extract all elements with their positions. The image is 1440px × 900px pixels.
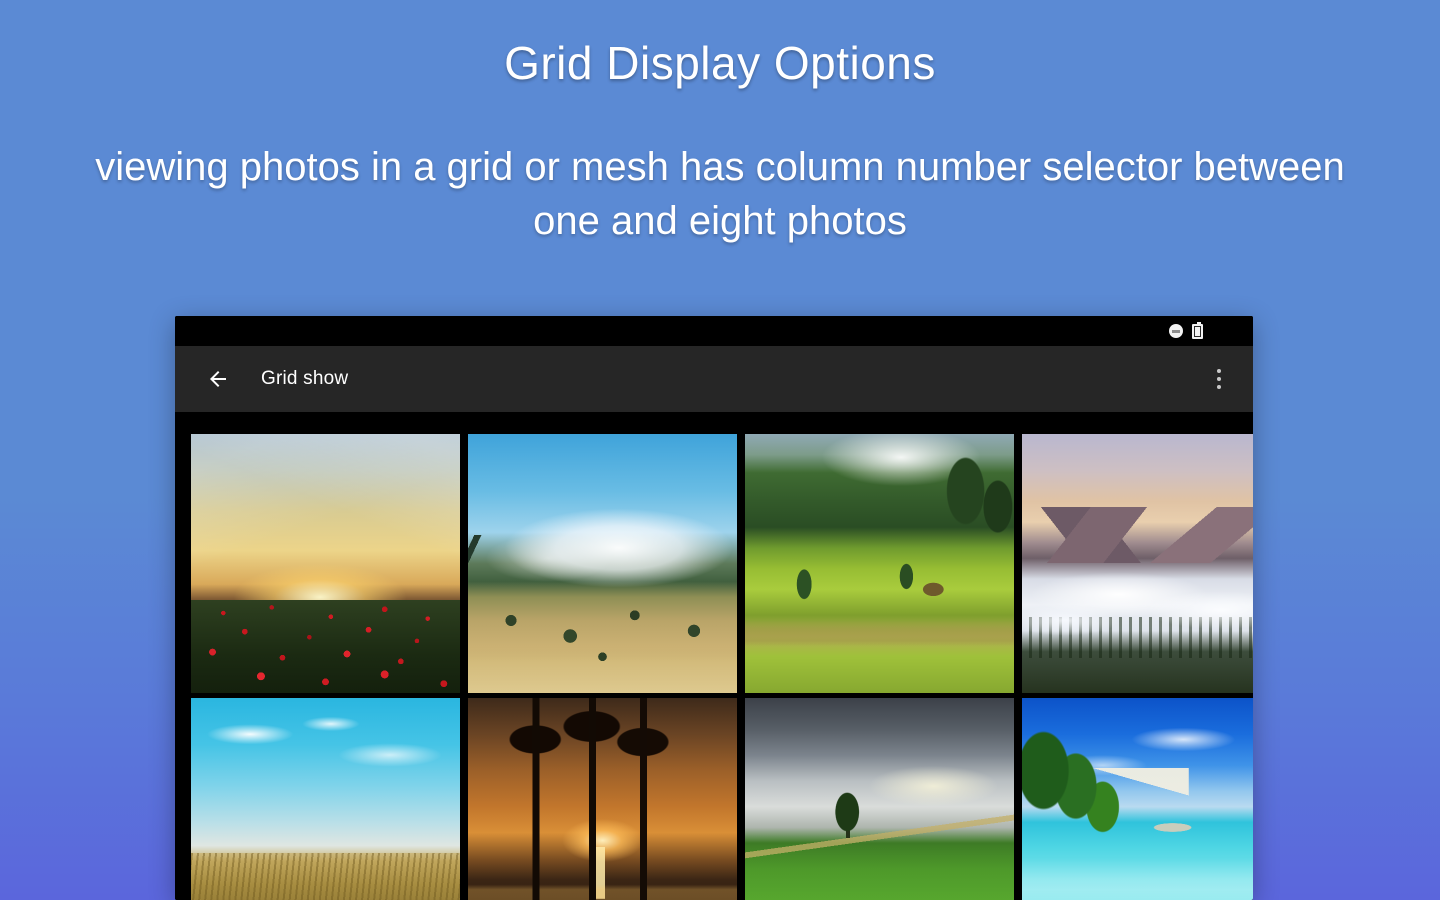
app-bar-title: Grid show [261, 368, 348, 390]
more-vertical-icon-dot [1217, 385, 1222, 390]
promo-subtitle: viewing photos in a grid or mesh has col… [70, 140, 1370, 248]
photo-palm-trees-sunset[interactable] [468, 698, 737, 900]
arrow-left-icon [206, 367, 230, 391]
photo-mountain-peaks-clouds-art [1022, 434, 1253, 693]
status-bar [175, 316, 1253, 346]
photo-tropical-beach[interactable] [1022, 698, 1253, 900]
promo-screenshot: Grid Display Options viewing photos in a… [0, 0, 1440, 900]
photo-green-valley-art [745, 434, 1014, 693]
photo-wheat-field-blue-sky-art [191, 698, 460, 900]
overflow-menu-button[interactable] [1199, 356, 1239, 402]
battery-icon [1192, 324, 1203, 339]
photo-stormy-green-field[interactable] [745, 698, 1014, 900]
device-frame: Grid show [175, 316, 1253, 900]
photo-stormy-green-field-art [745, 698, 1014, 900]
photo-grid [191, 434, 1253, 900]
photo-poppy-field-sunset-art [191, 434, 460, 693]
photo-tropical-beach-art [1022, 698, 1253, 900]
promo-title: Grid Display Options [0, 36, 1440, 90]
sync-icon [1169, 324, 1183, 338]
app-bar: Grid show [175, 346, 1253, 412]
photo-mountain-peaks-clouds[interactable] [1022, 434, 1253, 693]
photo-poppy-field-sunset[interactable] [191, 434, 460, 693]
photo-green-valley[interactable] [745, 434, 1014, 693]
more-vertical-icon-dot [1217, 377, 1222, 382]
photo-palm-trees-sunset-art [468, 698, 737, 900]
grid-scroll-area[interactable] [175, 412, 1253, 900]
more-vertical-icon-dot [1217, 369, 1222, 374]
back-button[interactable] [197, 358, 239, 400]
photo-wheat-field-blue-sky[interactable] [191, 698, 460, 900]
photo-mountain-savanna[interactable] [468, 434, 737, 693]
photo-mountain-savanna-art [468, 434, 737, 693]
